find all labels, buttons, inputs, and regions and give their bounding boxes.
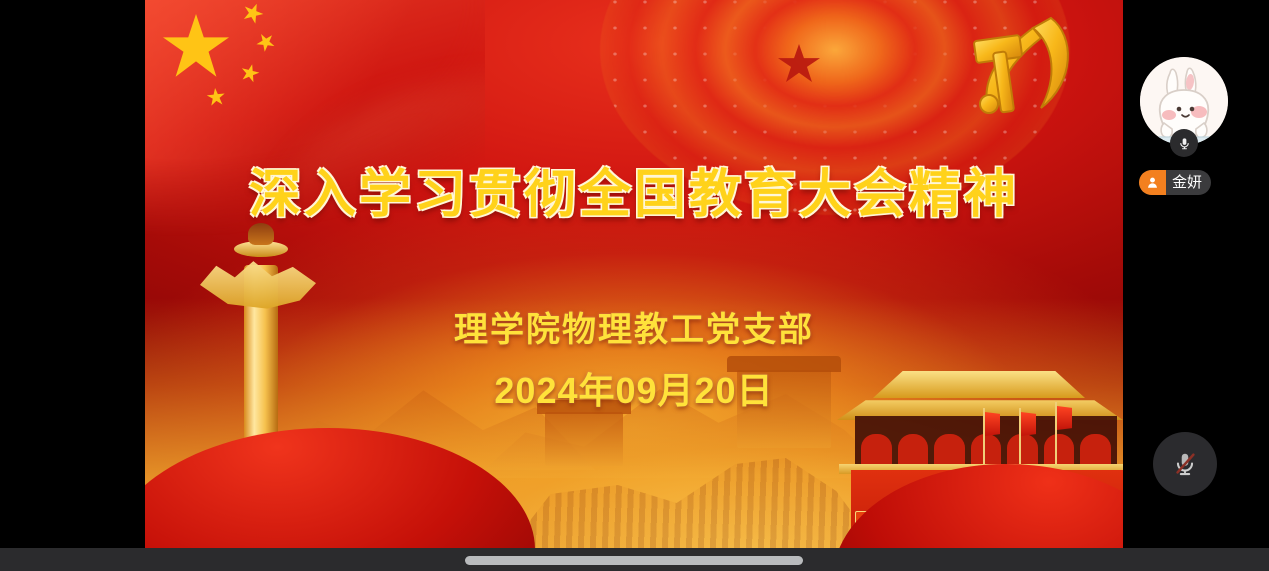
gate-flag-2: [1021, 412, 1036, 436]
flag-star-small-icon-4: [206, 87, 226, 107]
horizontal-scrollbar[interactable]: [0, 548, 1269, 571]
gate-flagpole-1: [983, 408, 985, 464]
bottom-bar: [0, 548, 1269, 571]
flag-star-small-icon-2: [253, 29, 278, 54]
gate-flag-1: [985, 412, 1000, 436]
watchtower-1: [545, 412, 623, 466]
flag-star-small-icon-3: [239, 62, 261, 84]
gate-arch: [861, 434, 892, 464]
gate-arch: [1007, 434, 1038, 464]
scrollbar-thumb[interactable]: [465, 556, 803, 565]
microphone-muted-icon[interactable]: [1153, 432, 1217, 496]
slide-date: 2024年09月20日: [145, 362, 1123, 414]
presentation-slide[interactable]: 中华人民共和国万岁 世界人民大团结万岁 深入学习贯彻全国教育大会精神 理学院物理…: [145, 0, 1123, 548]
flag-star-large-icon: [163, 14, 229, 80]
screen-share-viewer: 中华人民共和国万岁 世界人民大团结万岁 深入学习贯彻全国教育大会精神 理学院物理…: [0, 0, 1269, 571]
microphone-icon: [1170, 129, 1198, 157]
shared-screen-stage[interactable]: 中华人民共和国万岁 世界人民大团结万岁 深入学习贯彻全国教育大会精神 理学院物理…: [0, 0, 1269, 548]
participant-name-badge: 金妍: [1139, 170, 1211, 195]
person-icon: [1139, 170, 1166, 195]
slide-subtitle: 理学院物理教工党支部: [145, 302, 1123, 351]
gate-arch: [971, 434, 1002, 464]
party-emblem-icon: [951, 6, 1101, 136]
flag-star-small-icon-1: [240, 0, 266, 26]
gate-flagpole-2: [1019, 408, 1021, 464]
gate-arch: [898, 434, 929, 464]
slide-title: 深入学习贯彻全国教育大会精神: [145, 152, 1123, 227]
gate-arch: [1080, 434, 1111, 464]
gate-arch: [1044, 434, 1075, 464]
participant-name: 金妍: [1166, 170, 1211, 195]
gate-arch: [934, 434, 965, 464]
participant-tile[interactable]: [1140, 57, 1228, 145]
